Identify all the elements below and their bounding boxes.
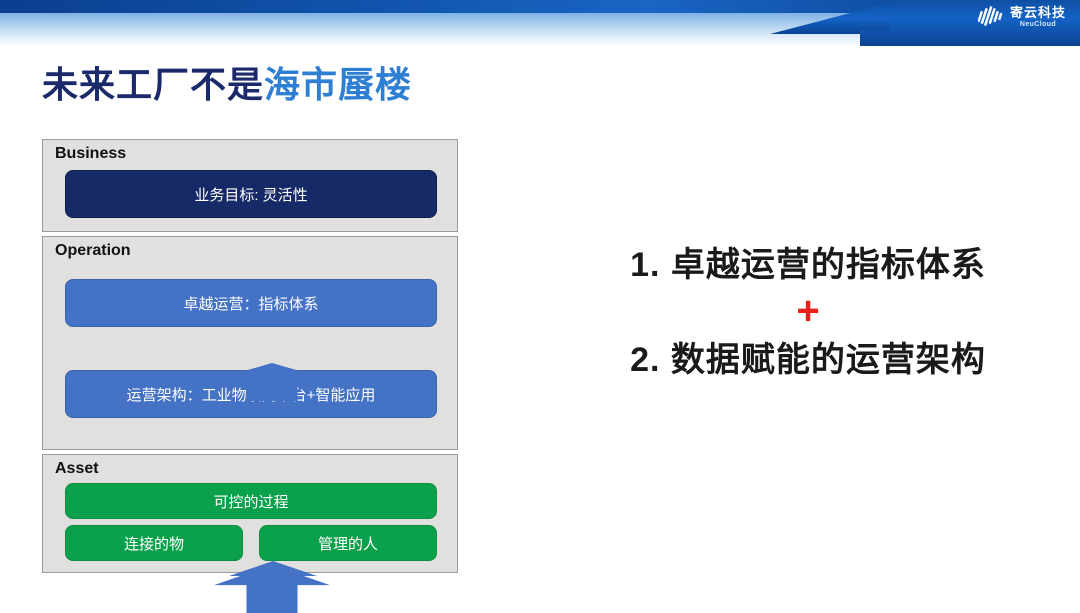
brand-name-en: NeuCloud bbox=[1020, 21, 1056, 28]
layer-label-asset: Asset bbox=[43, 455, 457, 480]
box-business-goal: 业务目标: 灵活性 bbox=[65, 170, 437, 218]
key-point-1: 1. 卓越运营的指标体系 bbox=[556, 246, 1060, 285]
layer-label-business: Business bbox=[43, 140, 457, 165]
layer-panel-business: Business 业务目标: 灵活性 bbox=[42, 139, 458, 232]
brand-logo: 寄云科技 NeuCloud bbox=[978, 5, 1066, 29]
brand-name-cn: 寄云科技 bbox=[1010, 6, 1066, 19]
layer-label-operation: Operation bbox=[43, 237, 457, 262]
brand-logo-text: 寄云科技 NeuCloud bbox=[1010, 6, 1066, 28]
key-points-panel: 1. 卓越运营的指标体系 + 2. 数据赋能的运营架构 bbox=[556, 246, 1060, 380]
page-title-part-1: 未来工厂不是 bbox=[42, 64, 264, 105]
layered-architecture-diagram: Business 业务目标: 灵活性 Operation 卓越运营：指标体系 运… bbox=[42, 139, 458, 573]
layer-panel-operation: Operation 卓越运营：指标体系 运营架构：工业物联网平台+智能应用 bbox=[42, 236, 458, 450]
box-operational-excellence: 卓越运营：指标体系 bbox=[65, 279, 437, 327]
box-controllable-process: 可控的过程 bbox=[65, 483, 437, 519]
neucloud-stripes-icon bbox=[978, 5, 1004, 29]
page-title-part-2: 海市蜃楼 bbox=[264, 64, 412, 105]
layer-panel-asset: Asset 可控的过程 连接的物 管理的人 bbox=[42, 454, 458, 573]
plus-icon: + bbox=[556, 291, 1060, 331]
box-managed-people: 管理的人 bbox=[259, 525, 437, 561]
box-connected-things: 连接的物 bbox=[65, 525, 243, 561]
header-banner: 寄云科技 NeuCloud bbox=[0, 0, 1080, 46]
key-point-2: 2. 数据赋能的运营架构 bbox=[556, 341, 1060, 380]
page-title: 未来工厂不是海市蜃楼 bbox=[42, 56, 412, 108]
